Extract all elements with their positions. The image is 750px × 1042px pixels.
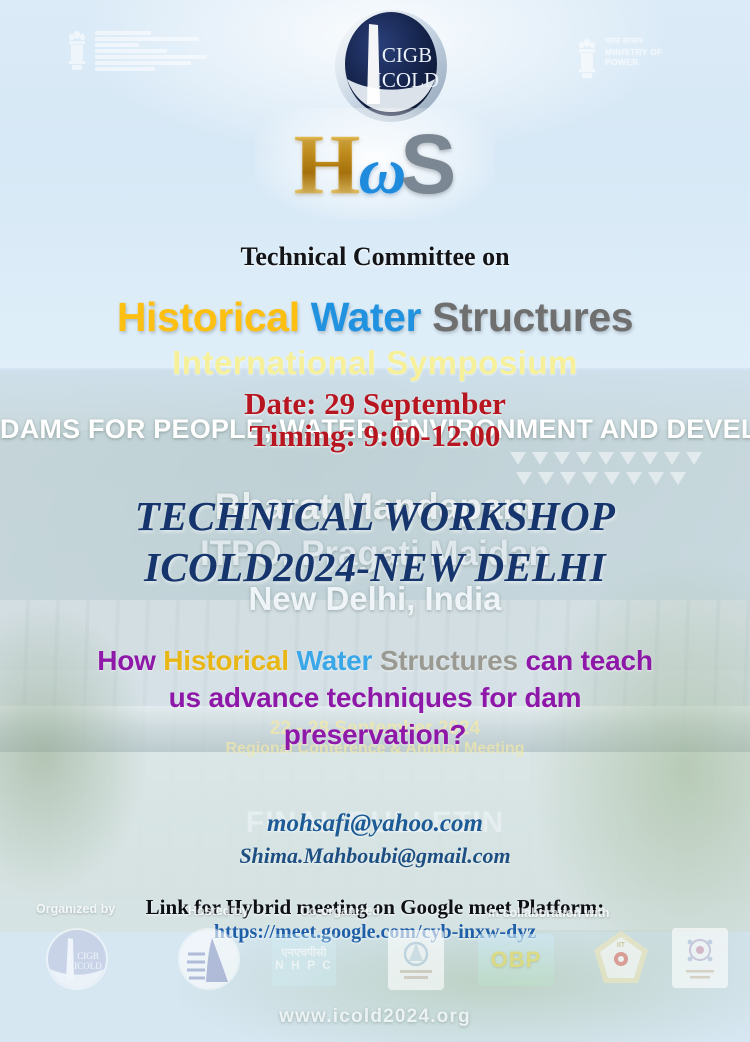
workshop-title-line-2: ICOLD2024-NEW DELHI [0,543,750,591]
label-hosted-by: Hosted by [188,904,248,918]
emblem-right-ministry-of-power: भारत सरकार MINISTRY OF POWER [576,36,663,82]
dam-spillway-icon [178,928,240,990]
question-word-structures: Structures [380,645,526,676]
ministry-line-1: MINISTRY OF [605,47,663,58]
label-organized-by: Organized by [36,902,115,916]
workshop-title-line-1: TECHNICAL WORKSHOP [0,492,750,540]
india-state-emblem-icon [66,28,88,74]
partner-logo-inchold [178,928,240,990]
cigb-icold-logo-icon: CIGB ICOLD [333,8,449,124]
question-word-historical: Historical [163,645,296,676]
question-line-1: How Historical Water Structures can teac… [0,642,750,679]
poster-canvas: भारत सरकार MINISTRY OF POWER CIGB ICOLD [0,0,750,1042]
partner-logo-cigb-icold: CIGB ICOLD [46,928,108,990]
question-word-can-teach: can teach [525,645,652,676]
ministry-line-2: POWER [605,57,663,68]
event-date: Date: 29 September [0,386,750,422]
question-line-2-text: us advance techniques for dam [169,682,582,713]
footer-website: www.icold2024.org [0,1006,750,1028]
svg-text:CIGB: CIGB [77,951,99,961]
icold-logo-line1: CIGB [382,43,432,67]
partner-logo-4 [388,930,444,990]
svg-text:IIT: IIT [617,942,626,949]
contact-email-secondary[interactable]: Shima.Mahboubi@gmail.com [0,843,750,869]
svg-text:ICOLD: ICOLD [74,961,102,971]
event-timing: Timing: 9:00-12.00 [0,418,750,454]
cigb-icold-small-icon: CIGB ICOLD [46,928,108,990]
hws-logo: H ω S [255,108,495,220]
partner-7-icon [672,928,728,988]
hws-letter-h: H [294,121,361,207]
question-word-water: Water [296,645,379,676]
label-collaboration: in collaboration with [488,906,610,920]
partner-logo-strip: Organized by Hosted by Co-organized in c… [0,898,750,998]
obp-label: OBP [478,934,554,986]
title-word-water: Water [311,294,432,340]
ministry-hindi-label: भारत सरकार [605,36,663,47]
ministry-of-power-caption: भारत सरकार MINISTRY OF POWER [605,36,663,82]
emblem-left-caption [95,28,207,74]
partner-logo-7 [672,928,728,988]
label-co-organized: Co-organized [300,904,380,918]
page-title: Historical Water Structures [0,294,750,341]
partner-logo-nhpc: एनएचपीसी N H P C [272,934,336,986]
title-word-historical: Historical [117,294,311,340]
question-line-3-text: preservation? [284,719,467,750]
india-state-emblem-icon [576,36,598,82]
workshop-question: How Historical Water Structures can teac… [0,642,750,753]
question-line-3: preservation? [0,716,750,753]
partner-4-icon [388,930,444,990]
title-word-structures: Structures [432,294,633,340]
nhpc-label: N H P C [275,959,333,973]
icold-logo-line2: ICOLD [375,68,439,92]
contact-email-primary[interactable]: mohsafi@yahoo.com [0,810,750,838]
question-word-how: How [97,645,163,676]
partner-logo-obp: OBP [478,934,554,986]
emblem-left-ministry-jalshakti [66,28,207,74]
hws-letter-s: S [400,122,456,206]
partner-logo-6: IIT [590,928,652,995]
technical-committee-prefix: Technical Committee on [0,242,750,272]
partner-6-icon: IIT [590,928,652,990]
question-line-2: us advance techniques for dam [0,679,750,716]
